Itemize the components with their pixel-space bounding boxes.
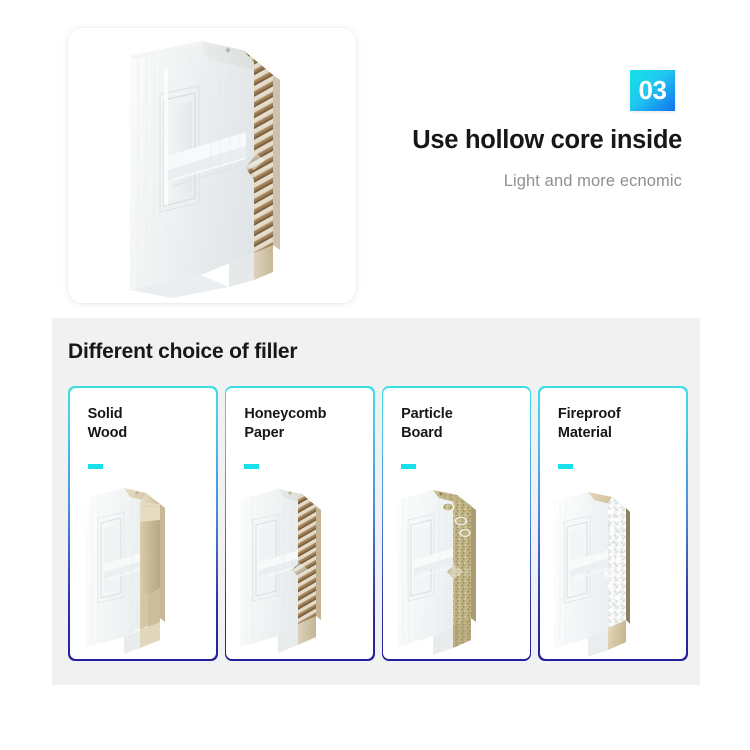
- filler-card-label-line2: Paper: [244, 425, 284, 441]
- door-cross-section-solid-wood-image: [70, 476, 217, 659]
- accent-dash-icon: [244, 464, 259, 469]
- door-cross-section-fireproof-material-image: [540, 476, 687, 659]
- filler-card-honeycomb-paper[interactable]: Honeycomb Paper: [225, 386, 375, 661]
- filler-card-fireproof-material[interactable]: Fireproof Material: [538, 386, 688, 661]
- filler-cards-row: Solid Wood: [68, 386, 688, 661]
- filler-card-solid-wood[interactable]: Solid Wood: [68, 386, 218, 661]
- hero-title: Use hollow core inside: [122, 126, 682, 155]
- filler-card-label-line2: Wood: [88, 425, 128, 441]
- filler-card-label-line2: Board: [401, 425, 442, 441]
- door-cross-section-particle-board-image: [383, 476, 530, 659]
- filler-section-heading: Different choice of filler: [68, 340, 297, 364]
- door-cross-section-honeycomb-core-image: [68, 28, 356, 303]
- filler-options-panel: Different choice of filler Solid Wood: [52, 318, 700, 685]
- filler-card-label-line1: Honeycomb: [244, 406, 326, 422]
- filler-card-label-line1: Particle: [401, 406, 453, 422]
- accent-dash-icon: [401, 464, 416, 469]
- filler-card-label-line1: Solid: [88, 406, 123, 422]
- door-cross-section-honeycomb-paper-image: [226, 476, 373, 659]
- step-number-badge: 03: [630, 70, 675, 111]
- filler-card-label-line2: Material: [558, 425, 612, 441]
- filler-card-label-line1: Fireproof: [558, 406, 621, 422]
- filler-card-label: Particle Board: [401, 405, 453, 444]
- filler-card-label: Fireproof Material: [558, 405, 621, 444]
- hero-product-image-card[interactable]: [68, 28, 356, 303]
- filler-card-label: Solid Wood: [88, 405, 128, 444]
- accent-dash-icon: [88, 464, 103, 469]
- accent-dash-icon: [558, 464, 573, 469]
- filler-card-label: Honeycomb Paper: [244, 405, 326, 444]
- hero-section: 03 Use hollow core inside Light and more…: [0, 0, 750, 318]
- filler-card-particle-board[interactable]: Particle Board: [382, 386, 532, 661]
- hero-subtitle: Light and more ecnomic: [122, 172, 682, 191]
